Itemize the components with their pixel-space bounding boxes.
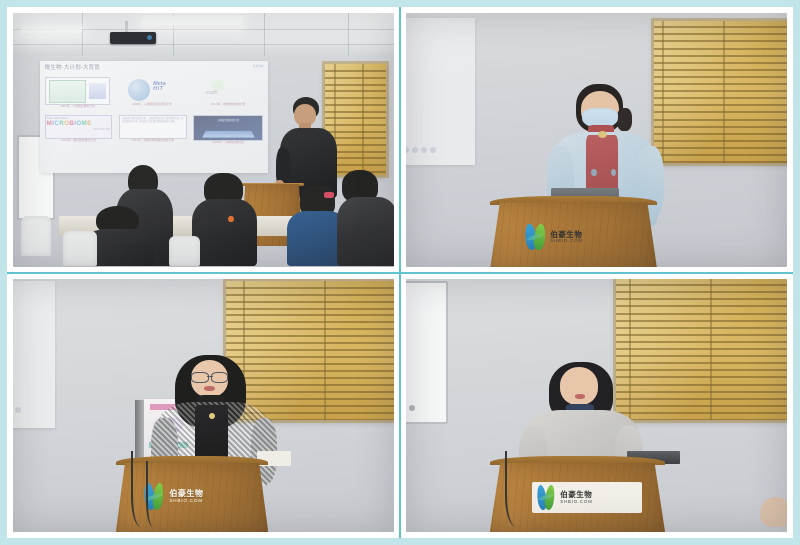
chair — [169, 236, 199, 266]
window-blinds — [616, 279, 787, 421]
ceiling-light — [141, 16, 243, 25]
audience-member — [337, 170, 394, 266]
photo-bottom-right: 伯豪生物 SHBIO.COM — [406, 279, 787, 533]
projection-screen: 化 — [406, 18, 475, 165]
ceiling — [13, 13, 394, 56]
microphone-cable — [505, 451, 534, 527]
slide-caption: 2008年，人类肠道宏基因组计划 — [117, 103, 187, 106]
slide-caption: 2016年，国家微生物组计划 — [45, 139, 113, 142]
ceiling-light — [19, 26, 83, 33]
brand-name-cn: 伯豪生物 — [550, 231, 582, 239]
whiteboard — [406, 281, 448, 424]
slide-caption: 2010年，地球微生物组计划 — [193, 103, 263, 106]
dna-helix-leaf-icon — [523, 224, 546, 250]
photo-collage: 微生物-大计划-大背景 伯豪生物 2007年，人类微生物组计划 — [0, 0, 800, 545]
chair — [21, 216, 51, 257]
photo-cell-top-right[interactable]: 化 — [400, 7, 793, 273]
photo-cell-bottom-right[interactable]: 伯豪生物 SHBIO.COM — [400, 273, 793, 539]
podium: 伯豪生物 SHBIO.COM — [490, 196, 658, 267]
brand-name-en: SHBIO.COM — [550, 239, 582, 243]
presentation-slide: 微生物-大计划-大背景 伯豪生物 2007年，人类微生物组计划 — [40, 61, 269, 173]
projection-screen: 微生物-大计划-大背景 伯豪生物 2007年，人类微生物组计划 — [40, 61, 269, 173]
audience-member — [192, 173, 257, 267]
slide-caption: 2017年，中国科学院微生物组计划 — [119, 139, 187, 142]
brand-name-cn: 伯豪生物 — [169, 490, 203, 498]
microphone-cable — [146, 461, 163, 527]
slide-title: 微生物-大计划-大背景 — [45, 65, 264, 72]
brand-name-cn: 伯豪生物 — [560, 491, 592, 499]
photo-cell-bottom-left[interactable]: 伯豪生物 SHBIO.COM — [7, 273, 400, 539]
glasses-icon — [191, 372, 229, 381]
brand-name-en: SHBIO.COM — [169, 499, 203, 504]
brand-name-en: SHBIO.COM — [560, 500, 592, 504]
dna-helix-leaf-icon — [536, 485, 556, 510]
photo-bottom-left: 伯豪生物 SHBIO.COM — [13, 279, 394, 533]
screen-dots — [406, 147, 436, 153]
window-blinds — [654, 21, 787, 163]
podium-logo: 伯豪生物 SHBIO.COM — [523, 224, 627, 250]
podium-logo: 伯豪生物 SHBIO.COM — [532, 482, 642, 513]
slide-microbiome-wordmark: MICROBIOME — [47, 120, 111, 128]
projector-icon — [110, 32, 156, 44]
slide-caption: 2007年，人类微生物组计划 — [45, 105, 111, 108]
whiteboard-markers — [406, 405, 415, 411]
photo-cell-top-left[interactable]: 微生物-大计划-大背景 伯豪生物 2007年，人类微生物组计划 — [7, 7, 400, 273]
photo-top-left: 微生物-大计划-大背景 伯豪生物 2007年，人类微生物组计划 — [13, 13, 394, 267]
photo-top-right: 化 — [406, 13, 787, 267]
projection-screen — [13, 281, 55, 428]
chair — [63, 231, 97, 266]
speaker-head — [560, 367, 598, 405]
hand — [760, 497, 787, 527]
slide-caption: 2019年，万种微生物计划 — [193, 141, 263, 144]
slide-corner-logo: 伯豪生物 — [253, 65, 263, 68]
screen-dots — [13, 407, 21, 413]
